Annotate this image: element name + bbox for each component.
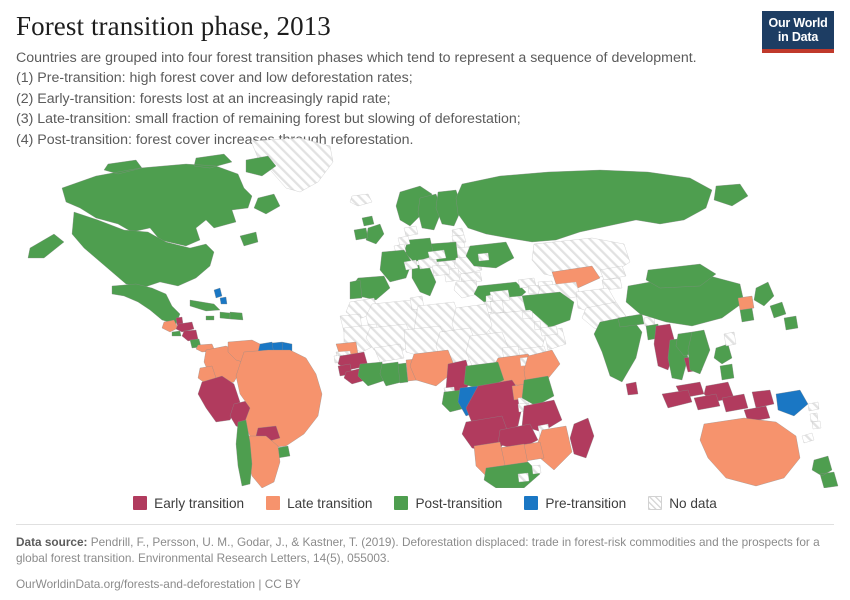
map-country-australia[interactable] bbox=[700, 418, 800, 486]
map-country-madagascar[interactable] bbox=[570, 418, 594, 458]
legend-label-no-data: No data bbox=[669, 496, 717, 511]
map-country-haiti[interactable] bbox=[220, 312, 230, 319]
legend-item-pre-transition[interactable]: Pre-transition bbox=[524, 496, 626, 511]
subtitle-line-0: Countries are grouped into four forest t… bbox=[16, 48, 834, 68]
map-country-kuwait[interactable] bbox=[522, 311, 533, 319]
footer-divider bbox=[16, 524, 834, 525]
map-country-eswatini[interactable] bbox=[532, 465, 541, 474]
source-url[interactable]: OurWorldinData.org/forests-and-deforesta… bbox=[16, 576, 834, 592]
legend-swatch-pre-transition bbox=[524, 496, 538, 510]
map-country-moldova[interactable] bbox=[478, 253, 489, 261]
legend-item-late-transition[interactable]: Late transition bbox=[266, 496, 372, 511]
map-country-new-zealand[interactable] bbox=[812, 456, 838, 488]
data-source-text: Data source: Pendrill, F., Persson, U. M… bbox=[16, 534, 834, 567]
map-country-lebanon[interactable] bbox=[486, 295, 493, 302]
our-world-in-data-logo[interactable]: Our World in Data bbox=[762, 11, 834, 53]
legend-item-early-transition[interactable]: Early transition bbox=[133, 496, 244, 511]
map-country-ireland[interactable] bbox=[354, 228, 368, 240]
subtitle-line-2: (2) Early-transition: forests lost at an… bbox=[16, 89, 834, 109]
map-country-tajikistan[interactable] bbox=[602, 278, 622, 290]
logo-line-1: Our World bbox=[768, 16, 827, 30]
legend-label-early-transition: Early transition bbox=[154, 496, 244, 511]
map-country-fiji[interactable] bbox=[812, 421, 821, 429]
map-country-greece[interactable] bbox=[454, 280, 478, 298]
chart-footer: Data source: Pendrill, F., Persson, U. M… bbox=[16, 524, 834, 592]
map-country-denmark[interactable] bbox=[404, 226, 418, 236]
map-country-taiwan[interactable] bbox=[724, 332, 736, 346]
map-country-india[interactable] bbox=[594, 316, 642, 382]
legend-item-no-data[interactable]: No data bbox=[648, 496, 717, 511]
map-country-solomon-islands[interactable] bbox=[808, 402, 819, 411]
map-country-papua-new-guinea[interactable] bbox=[776, 390, 808, 416]
world-choropleth-map[interactable] bbox=[0, 136, 850, 488]
data-source-citation: Pendrill, F., Persson, U. M., Godar, J.,… bbox=[16, 535, 820, 565]
map-country-dominican-republic[interactable] bbox=[230, 312, 243, 320]
map-country-estonia[interactable] bbox=[452, 228, 464, 236]
logo-line-2: in Data bbox=[778, 30, 818, 44]
map-country-iceland[interactable] bbox=[350, 194, 372, 206]
page-title: Forest transition phase, 2013 bbox=[16, 10, 834, 42]
map-country-qatar[interactable] bbox=[534, 321, 541, 330]
legend-swatch-post-transition bbox=[394, 496, 408, 510]
map-country-philippines[interactable] bbox=[714, 344, 734, 380]
map-country-vietnam[interactable] bbox=[688, 330, 710, 374]
map-country-brazil[interactable] bbox=[236, 350, 322, 448]
map-country-mexico[interactable] bbox=[112, 284, 180, 324]
map-country-russia[interactable] bbox=[456, 170, 748, 242]
forest-transition-map-chart: Forest transition phase, 2013 Countries … bbox=[0, 0, 850, 600]
legend-swatch-no-data bbox=[648, 496, 662, 510]
map-country-north-korea[interactable] bbox=[738, 296, 754, 310]
map-country-new-caledonia[interactable] bbox=[802, 433, 814, 443]
map-country-el-salvador[interactable] bbox=[172, 331, 181, 336]
legend-label-post-transition: Post-transition bbox=[415, 496, 502, 511]
subtitle-line-1: (1) Pre-transition: high forest cover an… bbox=[16, 68, 834, 88]
map-country-bahamas[interactable] bbox=[214, 288, 227, 304]
chart-subtitle: Countries are grouped into four forest t… bbox=[16, 48, 834, 150]
map-country-croatia[interactable] bbox=[432, 265, 450, 276]
map-country-south-korea[interactable] bbox=[740, 308, 754, 322]
legend-swatch-early-transition bbox=[133, 496, 147, 510]
legend-label-pre-transition: Pre-transition bbox=[545, 496, 626, 511]
map-country-switzerland[interactable] bbox=[404, 260, 418, 270]
legend-item-post-transition[interactable]: Post-transition bbox=[394, 496, 502, 511]
legend-swatch-late-transition bbox=[266, 496, 280, 510]
data-source-label: Data source: bbox=[16, 535, 87, 549]
map-country-sri-lanka[interactable] bbox=[626, 382, 638, 395]
map-country-mozambique[interactable] bbox=[538, 426, 572, 470]
map-country-cuba[interactable] bbox=[190, 300, 220, 311]
legend-label-late-transition: Late transition bbox=[287, 496, 372, 511]
map-country-portugal[interactable] bbox=[350, 280, 362, 299]
map-country-latvia[interactable] bbox=[452, 235, 466, 243]
map-country-lesotho[interactable] bbox=[518, 473, 529, 482]
map-legend: Early transition Late transition Post-tr… bbox=[0, 492, 850, 514]
map-country-jamaica[interactable] bbox=[206, 316, 214, 320]
chart-header: Forest transition phase, 2013 Countries … bbox=[16, 10, 834, 150]
map-country-ukraine[interactable] bbox=[466, 242, 514, 268]
map-country-japan[interactable] bbox=[754, 282, 798, 330]
map-svg bbox=[0, 136, 850, 488]
subtitle-line-3: (3) Late-transition: small fraction of r… bbox=[16, 109, 834, 129]
map-country-vanuatu[interactable] bbox=[810, 413, 818, 422]
